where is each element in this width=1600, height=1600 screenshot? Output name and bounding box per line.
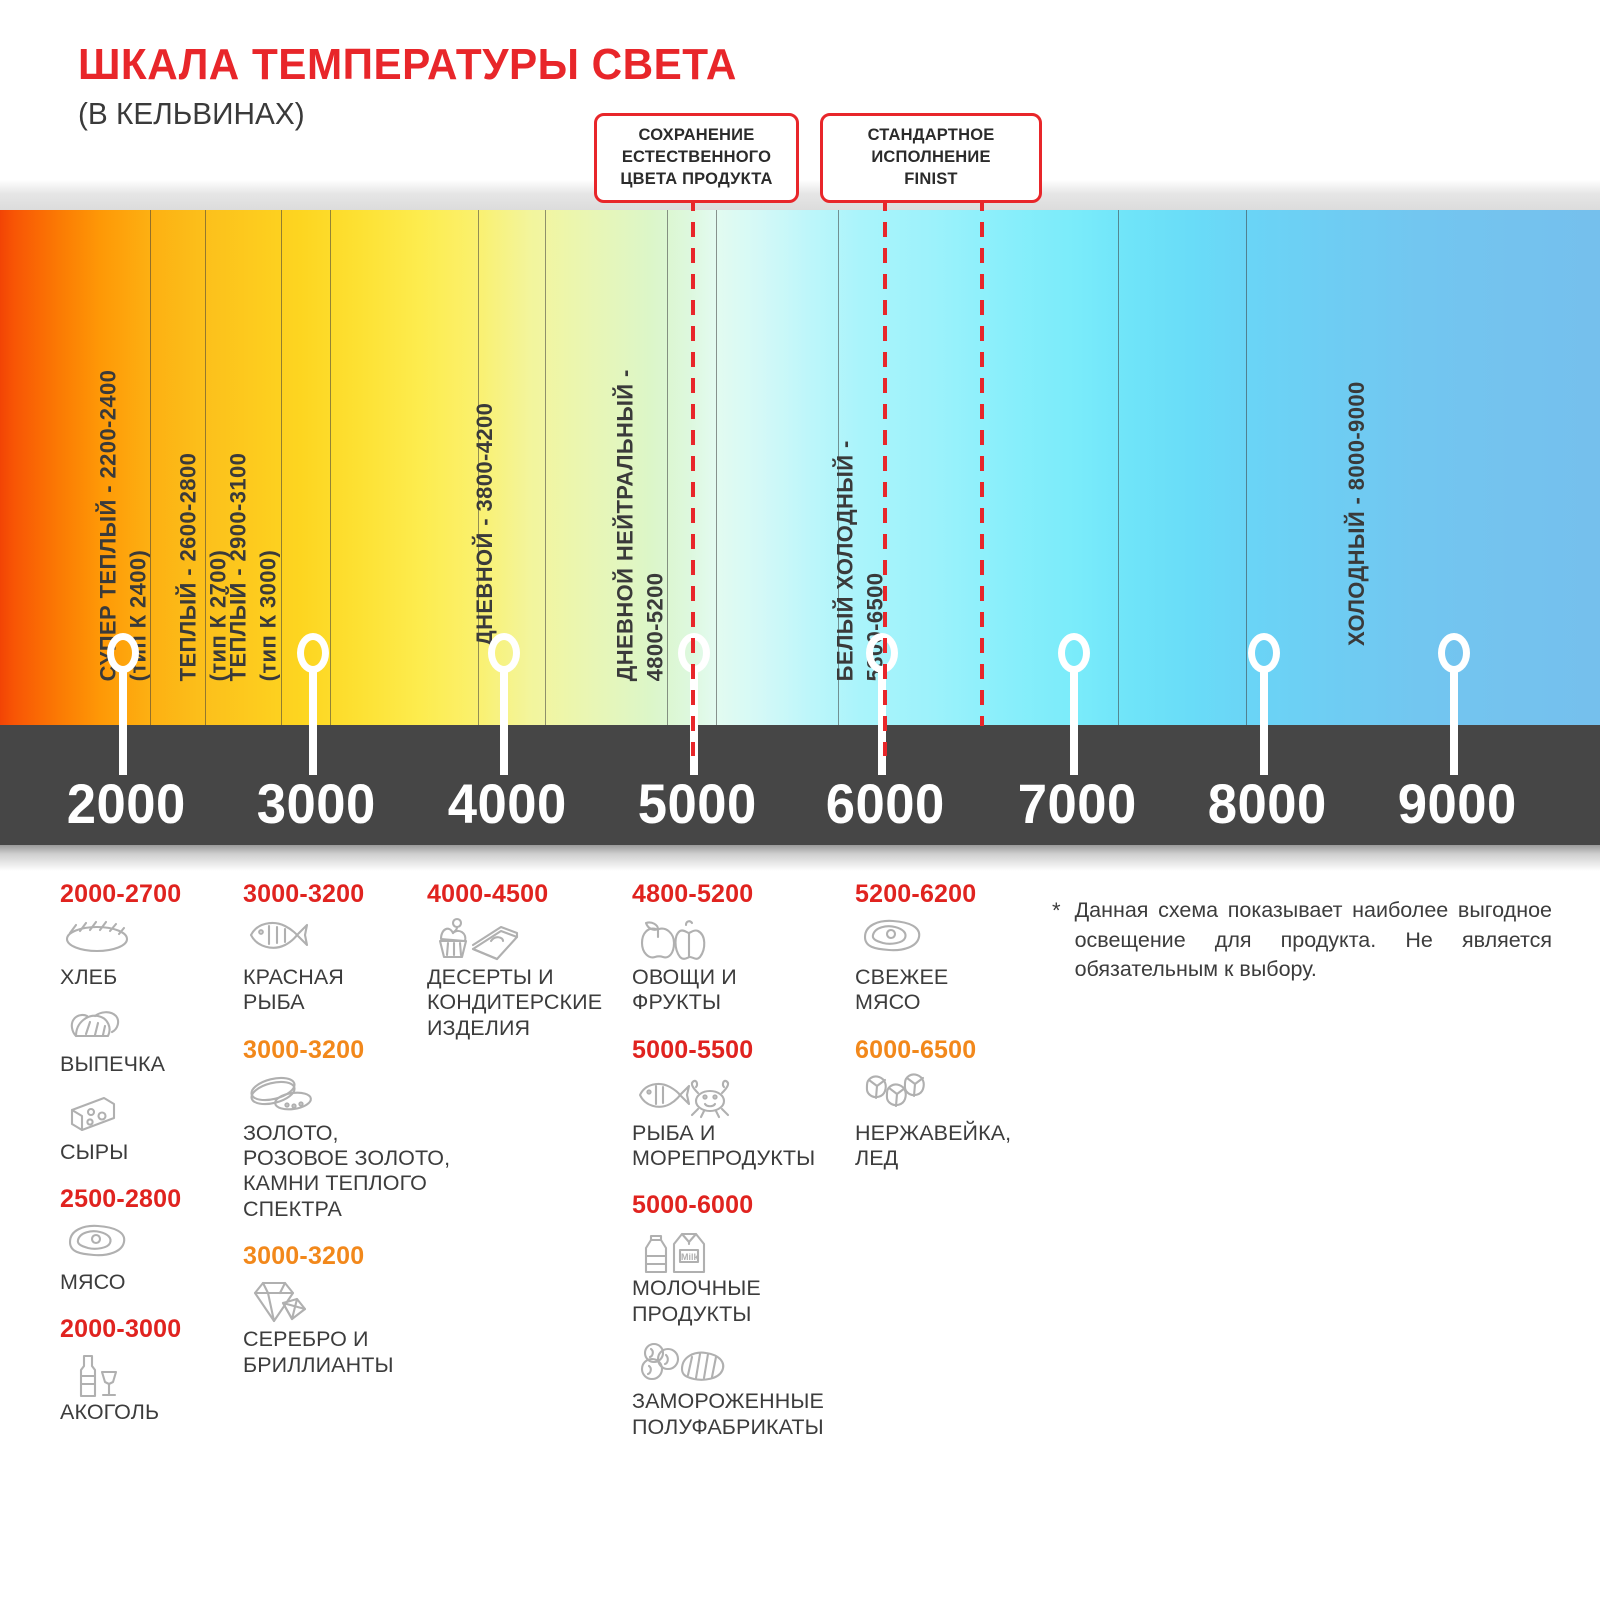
legend-range-label: 2000-3000 — [60, 1315, 235, 1344]
rings-icon — [247, 1071, 488, 1117]
legend-group: 6000-6500НЕРЖАВЕЙКА,ЛЕД — [855, 1036, 1045, 1172]
legend-group: 5000-6000MilkМОЛОЧНЫЕ ПРОДУКТЫЗАМОРОЖЕНН… — [632, 1191, 857, 1439]
pin-head — [866, 633, 898, 673]
pin-head — [107, 633, 139, 673]
scale-tick-8000: 8000 — [1208, 771, 1327, 836]
scale-tick-7000: 7000 — [1018, 771, 1137, 836]
legend-group: 4000-4500ДЕСЕРТЫ ИКОНДИТЕРСКИЕИЗДЕЛИЯ — [427, 880, 622, 1041]
scale-tick-4000: 4000 — [448, 771, 567, 836]
legend-group: 5000-5500РЫБА ИМОРЕПРОДУКТЫ — [632, 1036, 857, 1172]
cheese-icon — [64, 1090, 235, 1136]
legend-item-label: СВЕЖЕЕМЯСО — [855, 965, 1045, 1016]
legend-range-label: 2500-2800 — [60, 1185, 235, 1214]
legend-item: НЕРЖАВЕЙКА,ЛЕД — [855, 1071, 1045, 1172]
legend-range-label: 5000-6000 — [632, 1191, 857, 1220]
band-label-cold: ХОЛОДНЫЙ - 8000-9000 — [1344, 381, 1370, 646]
frozen-food-icon — [636, 1339, 857, 1385]
legend-item-label: ДЕСЕРТЫ ИКОНДИТЕРСКИЕИЗДЕЛИЯ — [427, 965, 622, 1041]
footnote-star: * — [1052, 896, 1061, 985]
legend-range-label: 5000-5500 — [632, 1036, 857, 1065]
legend-item-label: МОЛОЧНЫЕ ПРОДУКТЫ — [632, 1276, 857, 1327]
fruits-vegetables-icon — [636, 915, 857, 961]
pin-head — [488, 633, 520, 673]
band-label-range: 4800-5200 — [640, 369, 670, 681]
bread-icon — [64, 915, 235, 961]
steak-icon — [64, 1220, 235, 1266]
product-legend: 2000-2700ХЛЕБВЫПЕЧКАСЫРЫ2500-2800МЯСО200… — [0, 880, 1600, 1600]
croissant-icon — [64, 1002, 235, 1048]
legend-item: ЗАМОРОЖЕННЫЕПОЛУФАБРИКАТЫ — [632, 1339, 857, 1440]
legend-item-label: ХЛЕБ — [60, 965, 235, 990]
legend-item: СВЕЖЕЕМЯСО — [855, 915, 1045, 1016]
diamond-icon — [247, 1277, 488, 1323]
legend-group: 4800-5200ОВОЩИ ИФРУКТЫ — [632, 880, 857, 1016]
callout-1-line-1: СОХРАНЕНИЕ — [609, 125, 784, 147]
pin-stem — [309, 669, 317, 775]
pin-stem — [500, 669, 508, 775]
band-divider — [1118, 210, 1119, 725]
fresh-meat-icon — [859, 915, 1045, 961]
legend-range-label: 4000-4500 — [427, 880, 622, 909]
band-divider — [1246, 210, 1247, 725]
legend-item-label: СЫРЫ — [60, 1140, 235, 1165]
pin-stem — [119, 669, 127, 775]
legend-item-label: МЯСО — [60, 1270, 235, 1295]
band-label-text: ДНЕВНОЙ НЕЙТРАЛЬНЫЙ - — [611, 369, 641, 681]
legend-range-label: 6000-6500 — [855, 1036, 1045, 1065]
legend-group: 2500-2800МЯСО — [60, 1185, 235, 1295]
footnote-text: Данная схема показывает наиболее выгодно… — [1075, 896, 1552, 985]
callout-1-line-2: ЕСТЕСТВЕННОГО — [609, 147, 784, 169]
pin-head — [1058, 633, 1090, 673]
legend-item-label: РЫБА ИМОРЕПРОДУКТЫ — [632, 1121, 857, 1172]
legend-item: СЕРЕБРО ИБРИЛЛИАНТЫ — [243, 1277, 488, 1378]
legend-item: MilkМОЛОЧНЫЕ ПРОДУКТЫ — [632, 1226, 857, 1327]
page-subtitle: (В КЕЛЬВИНАХ) — [78, 96, 305, 132]
legend-column-1: 2000-2700ХЛЕБВЫПЕЧКАСЫРЫ2500-2800МЯСО200… — [60, 880, 235, 1446]
band-label-text: ТЕПЛЫЙ - 2600-2800 — [174, 453, 204, 682]
legend-item-label: СЕРЕБРО ИБРИЛЛИАНТЫ — [243, 1327, 488, 1378]
legend-item: ДЕСЕРТЫ ИКОНДИТЕРСКИЕИЗДЕЛИЯ — [427, 915, 622, 1041]
legend-item: АКОГОЛЬ — [60, 1350, 235, 1425]
scale-tick-2000: 2000 — [67, 771, 186, 836]
legend-column-5: 5200-6200СВЕЖЕЕМЯСО6000-6500НЕРЖАВЕЙКА,Л… — [855, 880, 1045, 1191]
legend-item: ВЫПЕЧКА — [60, 1002, 235, 1077]
dashed-guide-finist-left — [883, 196, 887, 756]
band-label-daylight-neutral: ДНЕВНОЙ НЕЙТРАЛЬНЫЙ - 4800-5200 — [611, 369, 670, 681]
pin-head — [1438, 633, 1470, 673]
pin-head — [1248, 633, 1280, 673]
band-label-text: БЕЛЫЙ ХОЛОДНЫЙ - — [831, 440, 861, 681]
legend-item: ЗОЛОТО,РОЗОВОЕ ЗОЛОТО,КАМНИ ТЕПЛОГОСПЕКТ… — [243, 1071, 488, 1222]
callout-2-line-1: СТАНДАРТНОЕ — [835, 125, 1027, 147]
pin-stem — [1260, 669, 1268, 775]
legend-range-label: 5200-6200 — [855, 880, 1045, 909]
ice-cubes-icon — [859, 1071, 1045, 1117]
legend-item: ОВОЩИ ИФРУКТЫ — [632, 915, 857, 1016]
alcohol-icon — [64, 1350, 235, 1396]
legend-column-4: 4800-5200ОВОЩИ ИФРУКТЫ5000-5500РЫБА ИМОР… — [632, 880, 857, 1460]
band-divider — [545, 210, 546, 725]
pin-head — [297, 633, 329, 673]
band-divider — [330, 210, 331, 725]
top-slab — [0, 180, 1600, 210]
legend-item-label: ЗОЛОТО,РОЗОВОЕ ЗОЛОТО,КАМНИ ТЕПЛОГОСПЕКТ… — [243, 1121, 488, 1222]
band-label-type: (тип К 3000) — [253, 453, 283, 682]
legend-item-label: ОВОЩИ ИФРУКТЫ — [632, 965, 857, 1016]
legend-item: МЯСО — [60, 1220, 235, 1295]
milk-icon: Milk — [636, 1226, 857, 1272]
legend-item: РЫБА ИМОРЕПРОДУКТЫ — [632, 1071, 857, 1172]
legend-item: ХЛЕБ — [60, 915, 235, 990]
kelvin-scale-bar — [0, 725, 1600, 847]
scale-tick-3000: 3000 — [257, 771, 376, 836]
legend-range-label: 3000-3200 — [243, 1242, 488, 1271]
callout-standard-finist: СТАНДАРТНОЕ ИСПОЛНЕНИЕ FINIST — [820, 113, 1042, 203]
legend-item: СЫРЫ — [60, 1090, 235, 1165]
footnote: * Данная схема показывает наиболее выгод… — [1052, 896, 1552, 985]
legend-range-label: 4800-5200 — [632, 880, 857, 909]
infographic-root: ШКАЛА ТЕМПЕРАТУРЫ СВЕТА (В КЕЛЬВИНАХ) СО… — [0, 0, 1600, 1600]
band-label-warm-3000: ТЕПЛЫЙ - 2900-3100 (тип К 3000) — [224, 453, 283, 682]
legend-group: 2000-3000АКОГОЛЬ — [60, 1315, 235, 1425]
dashed-guide-natural-color — [691, 196, 695, 756]
bottom-slab-shadow — [0, 845, 1600, 871]
legend-group: 3000-3200ЗОЛОТО,РОЗОВОЕ ЗОЛОТО,КАМНИ ТЕП… — [243, 1036, 488, 1222]
scale-tick-9000: 9000 — [1398, 771, 1517, 836]
legend-range-label: 2000-2700 — [60, 880, 235, 909]
legend-item-label: НЕРЖАВЕЙКА,ЛЕД — [855, 1121, 1045, 1172]
band-label-daylight: ДНЕВНОЙ - 3800-4200 — [472, 403, 498, 646]
pin-stem — [1070, 669, 1078, 775]
legend-item-label: ЗАМОРОЖЕННЫЕПОЛУФАБРИКАТЫ — [632, 1389, 857, 1440]
legend-group: 3000-3200СЕРЕБРО ИБРИЛЛИАНТЫ — [243, 1242, 488, 1378]
svg-text:Milk: Milk — [681, 1252, 699, 1262]
callout-1-line-3: ЦВЕТА ПРОДУКТА — [609, 169, 784, 191]
callout-2-line-3: FINIST — [835, 169, 1027, 191]
callout-2-line-2: ИСПОЛНЕНИЕ — [835, 147, 1027, 169]
scale-tick-5000: 5000 — [638, 771, 757, 836]
band-label-text: ТЕПЛЫЙ - 2900-3100 — [224, 453, 254, 682]
scale-tick-6000: 6000 — [826, 771, 945, 836]
callout-natural-color: СОХРАНЕНИЕ ЕСТЕСТВЕННОГО ЦВЕТА ПРОДУКТА — [594, 113, 799, 203]
dashed-guide-finist-right — [980, 196, 984, 726]
fish-crab-icon — [636, 1071, 857, 1117]
legend-group: 2000-2700ХЛЕБВЫПЕЧКАСЫРЫ — [60, 880, 235, 1165]
legend-group: 5200-6200СВЕЖЕЕМЯСО — [855, 880, 1045, 1016]
pin-stem — [1450, 669, 1458, 775]
page-title: ШКАЛА ТЕМПЕРАТУРЫ СВЕТА — [78, 40, 737, 90]
band-divider — [716, 210, 717, 725]
legend-item-label: ВЫПЕЧКА — [60, 1052, 235, 1077]
legend-column-3: 4000-4500ДЕСЕРТЫ ИКОНДИТЕРСКИЕИЗДЕЛИЯ — [427, 880, 622, 1061]
dessert-icon — [431, 915, 622, 961]
legend-item-label: АКОГОЛЬ — [60, 1400, 235, 1425]
